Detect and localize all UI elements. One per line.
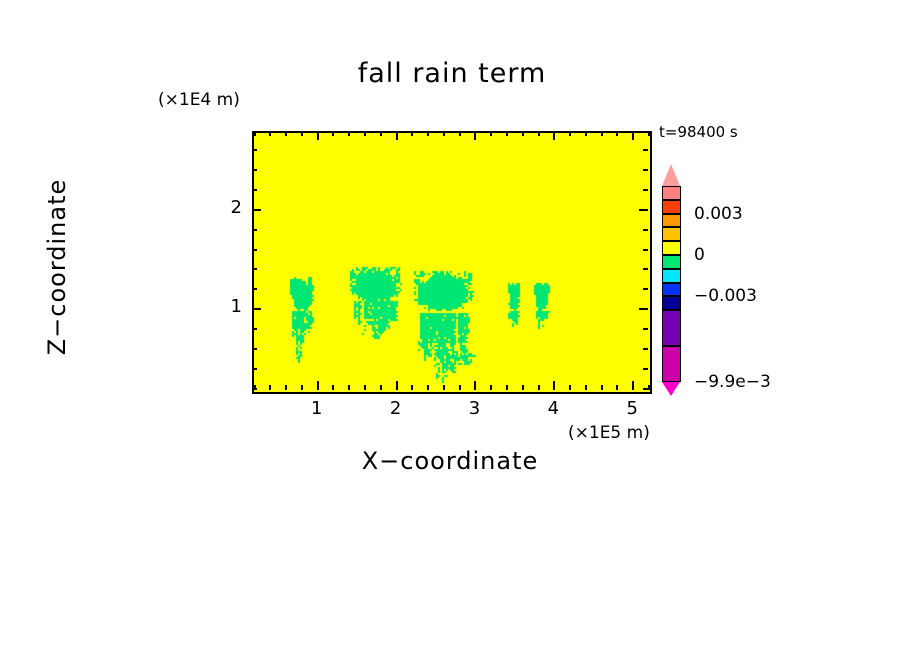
x-tick-label: 4 xyxy=(533,398,573,419)
y-axis-multiplier-label: (×1E4 m) xyxy=(158,90,240,110)
y-minor-tick xyxy=(252,149,257,151)
y-axis-title: Z−coordinate xyxy=(43,137,71,397)
colorbar-band-navy xyxy=(662,296,681,310)
y-major-tick xyxy=(252,209,261,211)
colorbar-band-spring-green xyxy=(662,255,681,269)
y-minor-tick-right xyxy=(643,288,648,290)
y-tick-label: 1 xyxy=(212,296,242,317)
x-major-tick xyxy=(553,381,555,390)
colorbar-band-gold xyxy=(662,227,681,241)
x-minor-tick xyxy=(285,385,287,390)
x-tick-label: 2 xyxy=(376,398,416,419)
y-major-tick-right xyxy=(639,308,648,310)
x-minor-tick-top xyxy=(601,131,603,136)
y-minor-tick xyxy=(252,348,257,350)
x-major-tick xyxy=(396,381,398,390)
x-axis-multiplier-label: (×1E5 m) xyxy=(568,423,650,443)
colorbar-band-cyan xyxy=(662,269,681,283)
x-major-tick xyxy=(317,381,319,390)
y-minor-tick-right xyxy=(643,249,648,251)
colorbar-band-orange xyxy=(662,214,681,228)
x-major-tick-top xyxy=(474,131,476,140)
y-minor-tick xyxy=(252,189,257,191)
y-minor-tick xyxy=(252,169,257,171)
x-minor-tick-top xyxy=(269,131,271,136)
colorbar-tick-label: 0 xyxy=(694,245,705,265)
y-minor-tick-right xyxy=(643,229,648,231)
colorbar-band-salmon xyxy=(662,186,681,200)
x-major-tick xyxy=(632,381,634,390)
x-minor-tick-top xyxy=(411,131,413,136)
y-minor-tick xyxy=(252,368,257,370)
x-minor-tick xyxy=(443,385,445,390)
x-minor-tick-top xyxy=(332,131,334,136)
x-minor-tick-top xyxy=(443,131,445,136)
x-minor-tick xyxy=(459,385,461,390)
colorbar-tick-label: −9.9e−3 xyxy=(694,372,771,392)
colorbar-band-orange-red xyxy=(662,200,681,214)
x-minor-tick-top xyxy=(459,131,461,136)
x-minor-tick-top xyxy=(364,131,366,136)
x-major-tick-top xyxy=(317,131,319,140)
y-major-tick-right xyxy=(639,209,648,211)
x-minor-tick-top xyxy=(380,131,382,136)
y-minor-tick xyxy=(252,268,257,270)
x-minor-tick-top xyxy=(427,131,429,136)
x-major-tick-top xyxy=(553,131,555,140)
colorbar-bottom-arrow xyxy=(662,382,680,396)
field-heatmap-canvas xyxy=(254,133,650,392)
y-minor-tick xyxy=(252,229,257,231)
x-minor-tick xyxy=(601,385,603,390)
x-minor-tick xyxy=(648,385,650,390)
x-major-tick-top xyxy=(396,131,398,140)
colorbar-band-purple xyxy=(662,310,681,346)
x-minor-tick-top xyxy=(648,131,650,136)
x-minor-tick xyxy=(585,385,587,390)
y-major-tick xyxy=(252,308,261,310)
x-axis-title: X−coordinate xyxy=(252,447,648,475)
x-minor-tick xyxy=(364,385,366,390)
x-major-tick-top xyxy=(632,131,634,140)
x-minor-tick xyxy=(269,385,271,390)
y-minor-tick xyxy=(252,328,257,330)
colorbar-band-magenta xyxy=(662,346,681,382)
y-tick-label: 2 xyxy=(212,197,242,218)
x-minor-tick-top xyxy=(254,131,256,136)
colorbar-top-arrow xyxy=(662,164,680,186)
x-minor-tick xyxy=(380,385,382,390)
x-minor-tick-top xyxy=(616,131,618,136)
x-tick-label: 3 xyxy=(454,398,494,419)
x-minor-tick-top xyxy=(285,131,287,136)
x-minor-tick xyxy=(411,385,413,390)
plot-area xyxy=(252,131,652,394)
x-minor-tick-top xyxy=(585,131,587,136)
colorbar-band-yellow xyxy=(662,241,681,255)
colorbar-tick-label: 0.003 xyxy=(694,204,743,224)
y-minor-tick-right xyxy=(643,169,648,171)
x-tick-label: 1 xyxy=(297,398,337,419)
y-minor-tick-right xyxy=(643,388,648,390)
x-minor-tick-top xyxy=(538,131,540,136)
timestamp-annotation: t=98400 s xyxy=(659,123,738,141)
x-minor-tick xyxy=(490,385,492,390)
x-minor-tick-top xyxy=(506,131,508,136)
x-tick-label: 5 xyxy=(612,398,652,419)
x-minor-tick xyxy=(332,385,334,390)
figure-root: fall rain term (×1E4 m) (×1E5 m) t=98400… xyxy=(0,0,904,654)
colorbar-tick-label: −0.003 xyxy=(694,286,757,306)
y-minor-tick-right xyxy=(643,348,648,350)
x-major-tick xyxy=(474,381,476,390)
x-minor-tick xyxy=(538,385,540,390)
x-minor-tick-top xyxy=(522,131,524,136)
x-minor-tick-top xyxy=(348,131,350,136)
x-minor-tick xyxy=(616,385,618,390)
colorbar xyxy=(662,164,681,396)
x-minor-tick xyxy=(522,385,524,390)
y-minor-tick xyxy=(252,249,257,251)
y-minor-tick xyxy=(252,288,257,290)
y-minor-tick-right xyxy=(643,268,648,270)
y-minor-tick-right xyxy=(643,368,648,370)
y-minor-tick-right xyxy=(643,149,648,151)
x-minor-tick xyxy=(506,385,508,390)
x-minor-tick xyxy=(348,385,350,390)
x-minor-tick-top xyxy=(301,131,303,136)
x-minor-tick-top xyxy=(490,131,492,136)
x-minor-tick xyxy=(569,385,571,390)
page-title: fall rain term xyxy=(0,58,904,89)
x-minor-tick-top xyxy=(569,131,571,136)
y-minor-tick-right xyxy=(643,328,648,330)
x-minor-tick xyxy=(427,385,429,390)
colorbar-band-blue xyxy=(662,283,681,297)
y-minor-tick xyxy=(252,388,257,390)
y-minor-tick-right xyxy=(643,189,648,191)
x-minor-tick xyxy=(301,385,303,390)
